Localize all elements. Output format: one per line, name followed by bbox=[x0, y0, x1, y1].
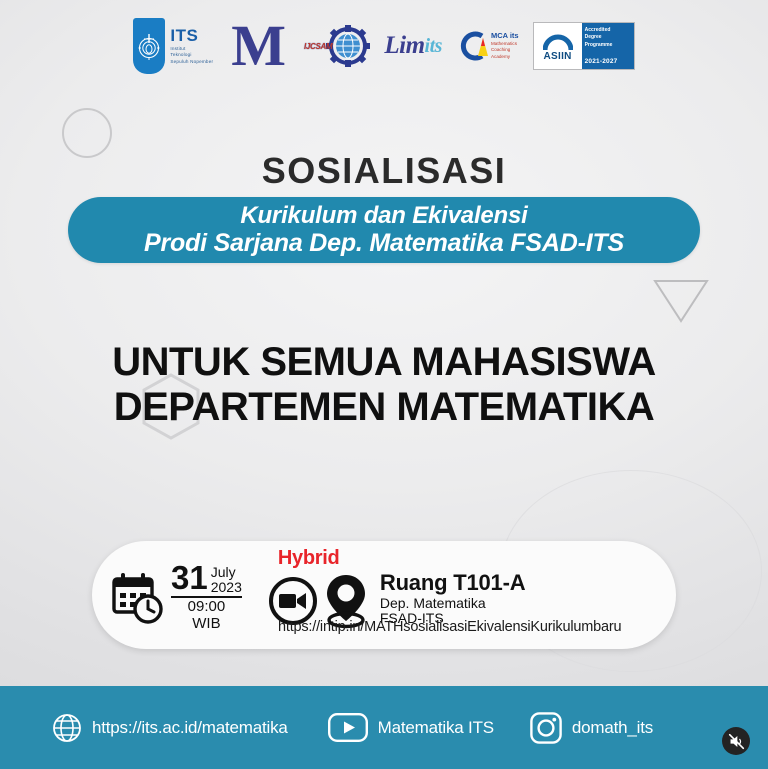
footer-website-label: https://its.ac.id/matematika bbox=[92, 718, 288, 738]
event-day: 31 bbox=[171, 563, 208, 593]
mca-emblem-icon bbox=[456, 29, 490, 63]
ijcsam-wordmark: IJCSAM bbox=[304, 42, 332, 51]
footer-instagram-label: domath_its bbox=[572, 718, 653, 738]
event-place-group: Hybrid Ruang T101-A Dep. Matematika FSAD… bbox=[268, 549, 526, 629]
its-line3: Sepuluh Nopember bbox=[170, 59, 213, 66]
title-line-2: Prodi Sarjana Dep. Matematika FSAD-ITS bbox=[144, 229, 624, 258]
event-time: 09:00 bbox=[171, 599, 242, 616]
title-pill: Kurikulum dan Ekivalensi Prodi Sarjana D… bbox=[68, 197, 700, 263]
limits-logo: Limits bbox=[384, 32, 442, 60]
mute-toggle-button[interactable] bbox=[722, 727, 750, 755]
registration-url[interactable]: https://intip.in/MATHsosialisasiEkivalen… bbox=[278, 619, 621, 635]
m-logo: M bbox=[231, 23, 286, 68]
speaker-muted-icon bbox=[728, 733, 745, 750]
asiin-arch-icon bbox=[543, 31, 573, 51]
calendar-clock-icon bbox=[112, 572, 164, 624]
asiin-r3: Programme bbox=[585, 42, 631, 49]
title-line-1: Kurikulum dan Ekivalensi bbox=[240, 202, 527, 230]
poster-canvas: ITS Institut Teknologi Sepuluh Nopember … bbox=[0, 0, 768, 769]
asiin-years: 2021-2027 bbox=[585, 58, 631, 65]
asiin-logo: ASIIN Accredited Degree Programme 2021-2… bbox=[533, 22, 635, 70]
event-month: July bbox=[211, 565, 242, 580]
event-year: 2023 bbox=[211, 580, 242, 595]
ijcsam-gear-globe-icon bbox=[326, 25, 370, 67]
statement-line-1: UNTUK SEMUA MAHASISWA bbox=[0, 340, 768, 385]
mca-l3: Academy bbox=[491, 54, 519, 60]
hybrid-badge: Hybrid bbox=[278, 547, 340, 570]
audience-statement: UNTUK SEMUA MAHASISWA DEPARTEMEN MATEMAT… bbox=[0, 340, 768, 430]
partner-logo-strip: ITS Institut Teknologi Sepuluh Nopember … bbox=[0, 10, 768, 82]
footer-youtube-item[interactable]: Matematika ITS bbox=[328, 713, 494, 742]
kicker-heading: SOSIALISASI bbox=[0, 150, 768, 192]
its-line1: Institut bbox=[170, 46, 213, 53]
footer-website-item[interactable]: https://its.ac.id/matematika bbox=[52, 713, 288, 743]
event-timezone: WIB bbox=[171, 616, 242, 633]
its-initials: ITS bbox=[170, 27, 213, 44]
statement-line-2: DEPARTEMEN MATEMATIKA bbox=[0, 385, 768, 430]
ijcsam-logo: IJCSAM bbox=[304, 25, 370, 67]
its-shield-icon bbox=[133, 18, 165, 74]
event-department: Dep. Matematika bbox=[380, 596, 526, 612]
its-line2: Teknologi bbox=[170, 52, 213, 59]
its-logo: ITS Institut Teknologi Sepuluh Nopember bbox=[133, 18, 213, 74]
asiin-wordmark: ASIIN bbox=[544, 51, 572, 62]
event-room: Ruang T101-A bbox=[380, 571, 526, 596]
mca-title: MCA its bbox=[491, 32, 519, 41]
asiin-r2: Degree bbox=[585, 34, 631, 41]
asiin-r1: Accredited bbox=[585, 27, 631, 34]
youtube-icon bbox=[328, 713, 368, 742]
social-footer-bar: https://its.ac.id/matematika Matematika … bbox=[0, 686, 768, 769]
instagram-icon bbox=[530, 712, 562, 744]
footer-instagram-item[interactable]: domath_its bbox=[530, 712, 653, 744]
limits-wordmark: Lim bbox=[384, 32, 424, 60]
event-info-card: 31 July 2023 09:00 WIB Hybrid bbox=[92, 541, 676, 649]
limits-tail: its bbox=[425, 35, 442, 58]
event-date-group: 31 July 2023 09:00 WIB bbox=[112, 563, 242, 633]
footer-youtube-label: Matematika ITS bbox=[378, 718, 494, 738]
mca-logo: MCA its Mathematics Coaching Academy bbox=[456, 29, 519, 63]
globe-icon bbox=[52, 713, 82, 743]
